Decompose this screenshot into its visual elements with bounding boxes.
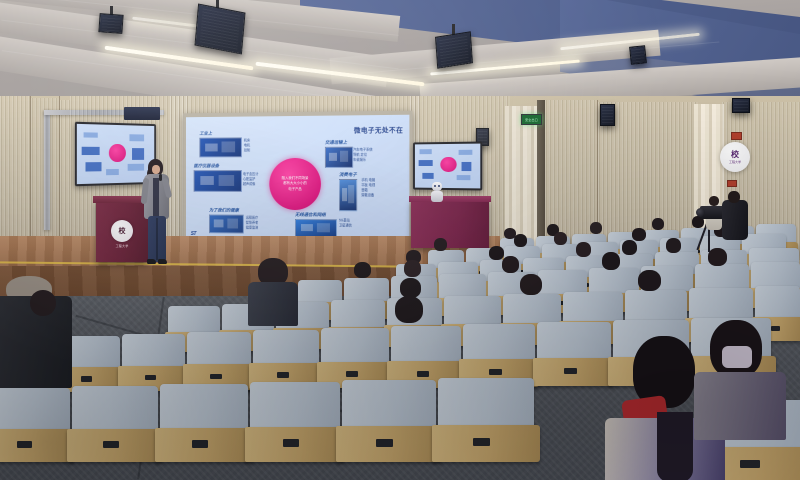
slide-node-transport: 交通运输上 xyxy=(325,140,353,168)
presentation-slide: 微电子无处不在 融入我们不同场景 都有大大小小的 电子产品 工业上 机床 电机 … xyxy=(186,115,409,244)
exit-sign-label: 安全出口 xyxy=(525,118,538,122)
small-display-above-left-monitor xyxy=(124,107,160,120)
bullet: 穿戴设备 xyxy=(361,193,375,198)
audience-member-foreground-left xyxy=(0,276,78,386)
robot-model xyxy=(430,182,444,202)
bullet: 健康监测 xyxy=(246,226,258,231)
wall-emblem-text: 工程大学 xyxy=(729,160,741,164)
slide-node-communication: 无线通信和网络 xyxy=(295,212,337,237)
seat[interactable] xyxy=(438,378,534,462)
audience-member xyxy=(512,234,530,249)
node-label: 消费电子 xyxy=(339,172,357,178)
node-thumbnail xyxy=(325,147,353,168)
operator-torso xyxy=(722,200,748,240)
seat[interactable] xyxy=(537,322,611,386)
seat[interactable] xyxy=(72,386,158,462)
face-mask xyxy=(722,346,752,368)
seat[interactable] xyxy=(160,384,248,462)
camera-operator xyxy=(700,190,766,260)
robot-body xyxy=(431,191,443,202)
presenter-leg-gap xyxy=(156,218,158,260)
second-person-head xyxy=(709,196,719,206)
slide-center-circle: 融入我们不同场景 都有大大小小的 电子产品 xyxy=(269,158,321,210)
node-label: 工业上 xyxy=(199,130,242,136)
right-wall-monitor xyxy=(413,142,482,191)
podium-emblem-initials: 校 xyxy=(119,226,126,236)
audience-member xyxy=(500,256,522,276)
camera-lens xyxy=(696,208,705,217)
presenter-shoe-left xyxy=(147,259,156,264)
presenter-face xyxy=(152,165,160,174)
slide-node-consumer: 消费电子 xyxy=(339,172,357,211)
right-monitor-screen xyxy=(415,144,480,189)
slide-node-consumer-bullets: 手机 电脑 平板 电视 音箱 穿戴设备 xyxy=(361,178,375,198)
podium-institution-text: 工程大学 xyxy=(116,244,129,248)
ceiling-speaker xyxy=(629,45,647,65)
slide-node-transport-bullets: 汽车电子系统 导航 定位 车载娱乐 xyxy=(353,148,372,163)
slide-title: 微电子无处不在 xyxy=(354,124,403,135)
presenter-coat-opening xyxy=(153,178,159,216)
slide-node-life-bullets: 远程医疗 智慧养老 健康监测 xyxy=(246,216,258,231)
audience-member xyxy=(352,262,374,281)
presenter-shoe-right xyxy=(158,259,167,264)
wall-emblem-mark: 校 xyxy=(731,151,739,159)
ceiling-speaker xyxy=(98,13,123,34)
seat[interactable] xyxy=(187,332,251,390)
bullet: 超声成像 xyxy=(243,182,259,187)
wall-speaker xyxy=(600,104,615,126)
audience-member xyxy=(392,296,428,328)
ceiling-speaker xyxy=(435,31,473,69)
seat[interactable] xyxy=(321,328,389,388)
audience-member xyxy=(402,260,424,280)
slide-node-medical-bullets: 电子血压计 心脏监护 超声成像 xyxy=(243,172,259,187)
exit-sign: 安全出口 xyxy=(521,114,542,125)
presenter xyxy=(140,160,174,264)
audience-member xyxy=(552,232,570,247)
seat[interactable] xyxy=(122,334,185,391)
audience-member xyxy=(600,252,624,273)
node-thumbnail xyxy=(194,170,242,192)
node-label: 为了我们的健康 xyxy=(209,208,244,214)
audience-member xyxy=(574,242,594,260)
node-label: 交通运输上 xyxy=(325,140,353,146)
bullet: 控制 xyxy=(244,148,250,153)
audience-member xyxy=(518,274,546,298)
node-thumbnail xyxy=(199,137,242,157)
display-table xyxy=(411,200,489,248)
bullet: 卫星通信 xyxy=(339,223,352,228)
slide-node-industry: 工业上 xyxy=(199,130,242,157)
student-jacket xyxy=(694,372,786,440)
seat[interactable] xyxy=(342,380,436,462)
bullet: 车载娱乐 xyxy=(353,158,372,163)
lecture-hall-photo: 安全出口 校 工程大学 微电子无处不在 融入我们不同场景 都有大 xyxy=(0,0,800,480)
projection-screen: 微电子无处不在 融入我们不同场景 都有大大小小的 电子产品 工业上 机床 电机 … xyxy=(183,111,412,250)
audience-member xyxy=(636,270,664,295)
slide-node-medical: 医疗仪器设备 xyxy=(194,163,242,192)
node-label: 无线通信和网络 xyxy=(295,212,337,218)
slide-node-industry-bullets: 机床 电机 控制 xyxy=(244,138,250,153)
center-circle-line-3: 电子产品 xyxy=(288,187,301,192)
robot-head xyxy=(432,182,442,191)
audience-member xyxy=(664,238,684,256)
fire-alarm-box xyxy=(727,180,737,187)
ceiling-speaker xyxy=(194,3,245,54)
seat[interactable] xyxy=(250,382,340,462)
seat[interactable] xyxy=(253,330,319,389)
audience-member xyxy=(650,218,666,232)
audience-member-foreground-center xyxy=(248,258,298,324)
node-thumbnail xyxy=(209,214,244,233)
fire-alarm-box xyxy=(731,132,742,140)
audience-member xyxy=(588,222,604,236)
slide-node-communication-bullets: 5G基站 卫星通信 xyxy=(339,218,352,228)
wall-emblem: 校 工程大学 xyxy=(720,142,750,172)
node-label: 医疗仪器设备 xyxy=(194,163,242,169)
seat[interactable] xyxy=(0,388,70,462)
display-table-top xyxy=(409,196,491,202)
node-thumbnail xyxy=(339,179,357,211)
audience-member-foreground-right-2 xyxy=(690,320,786,440)
operator-head xyxy=(728,191,740,203)
node-thumbnail xyxy=(295,219,337,237)
microphone xyxy=(159,174,162,181)
wall-speaker xyxy=(732,98,750,113)
podium-emblem: 校 xyxy=(111,220,133,242)
audience-member xyxy=(432,238,450,253)
slide-node-life: 为了我们的健康 xyxy=(209,208,244,234)
